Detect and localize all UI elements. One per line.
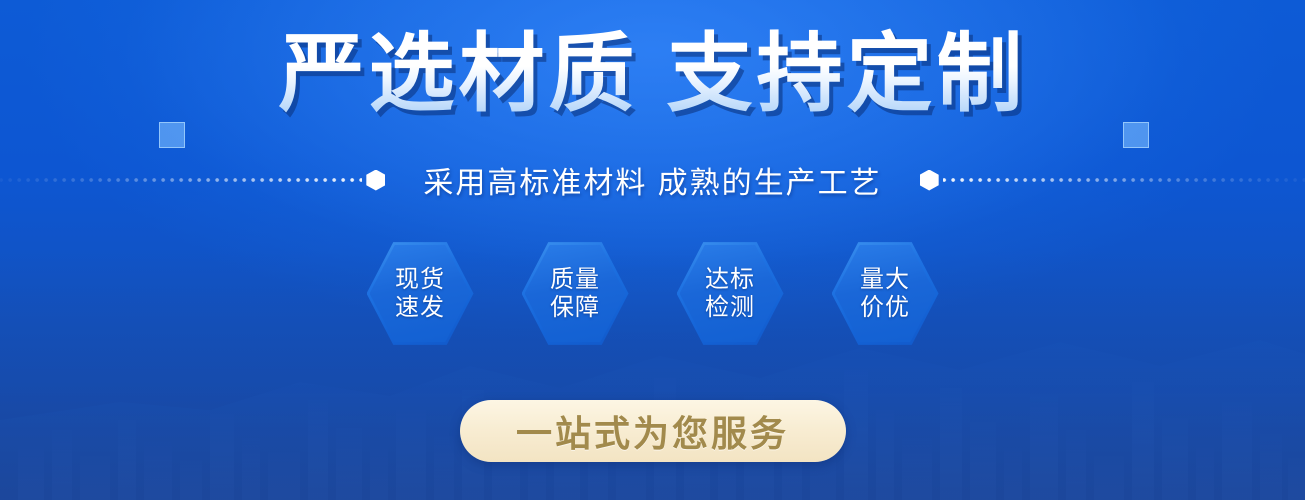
banner-title: 严选材质 支持定制 xyxy=(279,26,1027,122)
decorative-square-right xyxy=(1123,122,1149,148)
cta-container: 一站式为您服务 xyxy=(0,400,1305,462)
feature-badge-label: 量大 价优 xyxy=(860,266,910,321)
banner-subtitle: 采用高标准材料 成熟的生产工艺 xyxy=(389,158,915,202)
feature-badge-bulk-price: 量大 价优 xyxy=(832,240,939,347)
hexagon-bullet-left-icon xyxy=(366,170,385,191)
feature-badge-label: 质量 保障 xyxy=(550,266,600,321)
feature-badge-in-stock: 现货 速发 xyxy=(367,240,474,347)
hexagon-bullet-right-icon xyxy=(920,170,939,191)
decorative-square-left xyxy=(159,122,185,148)
feature-badge-quality: 质量 保障 xyxy=(522,240,629,347)
feature-badge-row: 现货 速发 质量 保障 达标 检测 量大 价优 xyxy=(0,240,1305,347)
title-container: 严选材质 支持定制 xyxy=(0,26,1305,122)
subtitle-row: 采用高标准材料 成熟的生产工艺 xyxy=(0,158,1305,202)
feature-badge-certified: 达标 检测 xyxy=(677,240,784,347)
dotted-line-left xyxy=(0,177,362,183)
feature-badge-label: 达标 检测 xyxy=(705,266,755,321)
one-stop-service-button[interactable]: 一站式为您服务 xyxy=(460,400,846,462)
dotted-line-right xyxy=(943,177,1305,183)
feature-badge-label: 现货 速发 xyxy=(395,266,445,321)
promo-banner: 严选材质 支持定制 采用高标准材料 成熟的生产工艺 现货 速发 质量 保障 达标… xyxy=(0,0,1305,500)
